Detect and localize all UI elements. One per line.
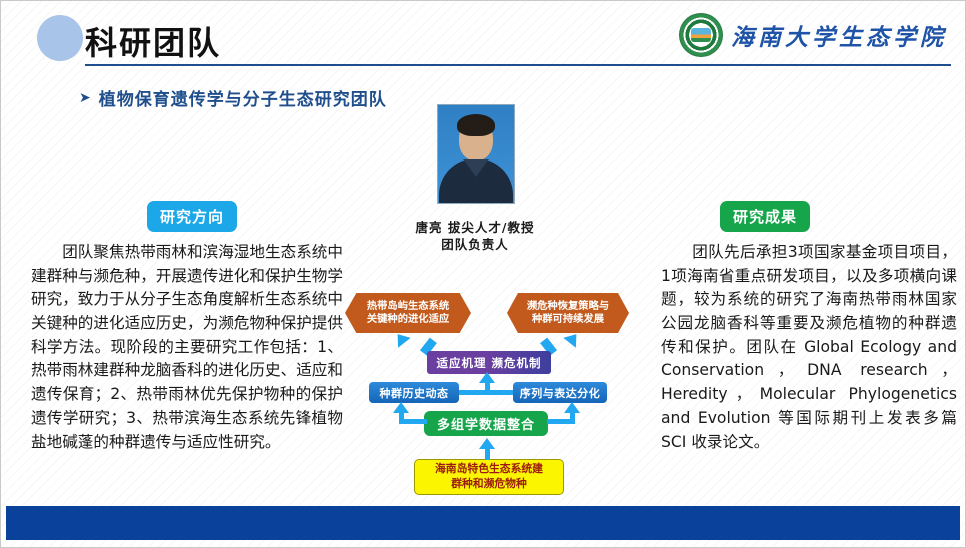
diagram-node-evolution-adaptation: 热带岛屿生态系统关键种的进化适应 [345,293,471,333]
subtitle-label: 植物保育遗传学与分子生态研究团队 [99,85,387,110]
connector-blue-boxes [459,390,513,395]
footer-bar [6,506,960,540]
research-direction-text: 团队聚焦热带雨林和滨海湿地生态系统中建群种与濒危种，开展遗传进化和保护生物学研究… [31,241,343,454]
elbow-right-head [564,402,580,413]
institution-logo: 海南大学生态学院 [679,13,947,57]
research-results-text: 团队先后承担3项国家基金项目项目，1项海南省重点研发项目，以及多项横向课题，较为… [661,241,957,454]
header-divider [85,64,951,66]
arrow-right-icon: ➤ [79,90,92,106]
diagram-node-hainan-species: 海南岛特色生态系统建群种和濒危物种 [414,459,564,495]
diagram-node-mechanism: 适应机理 濒危机制 [427,351,551,374]
research-direction-badge: 研究方向 [147,201,237,232]
diagram-node-sequence-expression: 序列与表达分化 [513,382,607,403]
header-bullet-dot [37,15,83,61]
leader-role: 团队负责人 [367,234,583,253]
institution-name: 海南大学生态学院 [731,18,947,52]
slide-canvas: 科研团队 海南大学生态学院 ➤ 植物保育遗传学与分子生态研究团队 唐亮 拔尖人才… [0,0,966,548]
arrow-up-to-mechanism-head [479,372,495,383]
elbow-left-head [393,402,409,413]
research-results-badge: 研究成果 [720,201,810,232]
arrow-up-to-multiomics-head [479,438,495,449]
leader-portrait [437,104,515,204]
portrait-hair [457,114,495,136]
diagram-node-recovery-strategy: 濒危种恢复策略与种群可持续发展 [507,293,629,333]
page-title: 科研团队 [85,18,221,64]
university-emblem-icon [679,13,723,57]
diagram-node-multiomics: 多组学数据整合 [424,411,548,436]
section-subtitle: ➤ 植物保育遗传学与分子生态研究团队 [79,85,387,110]
research-framework-diagram: 热带岛屿生态系统关键种的进化适应 濒危种恢复策略与种群可持续发展 适应机理 濒危… [341,283,631,503]
diagram-node-population-history: 种群历史动态 [369,382,459,403]
